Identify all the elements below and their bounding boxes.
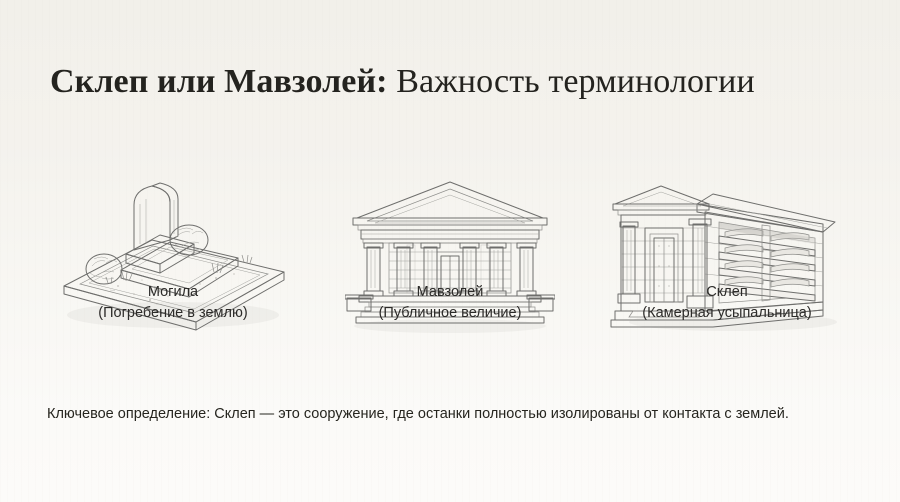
caption-crypt-sublabel: (Камерная усыпальница)	[594, 303, 860, 324]
page-title-bold: Склеп или Мавзолей:	[50, 63, 388, 100]
caption-crypt: Склеп (Камерная усыпальница)	[594, 282, 860, 324]
caption-grave: Могила (Погребение в землю)	[40, 282, 306, 324]
slide-canvas: Склеп или Мавзолей: Важность терминологи…	[0, 0, 900, 502]
grave-bush-right	[170, 225, 208, 255]
grave-bush-left	[86, 254, 122, 284]
crypt-roof	[697, 194, 835, 232]
caption-row: Могила (Погребение в землю) Мавзолей (Пу…	[40, 282, 860, 324]
caption-mausoleum: Мавзолей (Публичное величие)	[317, 282, 583, 324]
caption-grave-label: Могила	[148, 284, 198, 300]
mausoleum-pediment	[353, 182, 547, 230]
grave-headstone	[126, 183, 194, 273]
mausoleum-entablature	[361, 230, 539, 243]
caption-crypt-label: Склеп	[706, 284, 747, 300]
key-definition: Ключевое определение: Склеп — это сооруж…	[47, 403, 847, 425]
caption-grave-sublabel: (Погребение в землю)	[40, 303, 306, 324]
page-title: Склеп или Мавзолей: Важность терминологи…	[50, 61, 850, 102]
caption-mausoleum-sublabel: (Публичное величие)	[317, 303, 583, 324]
page-title-regular: Важность терминологии	[388, 63, 755, 100]
caption-mausoleum-label: Мавзолей	[417, 284, 484, 300]
